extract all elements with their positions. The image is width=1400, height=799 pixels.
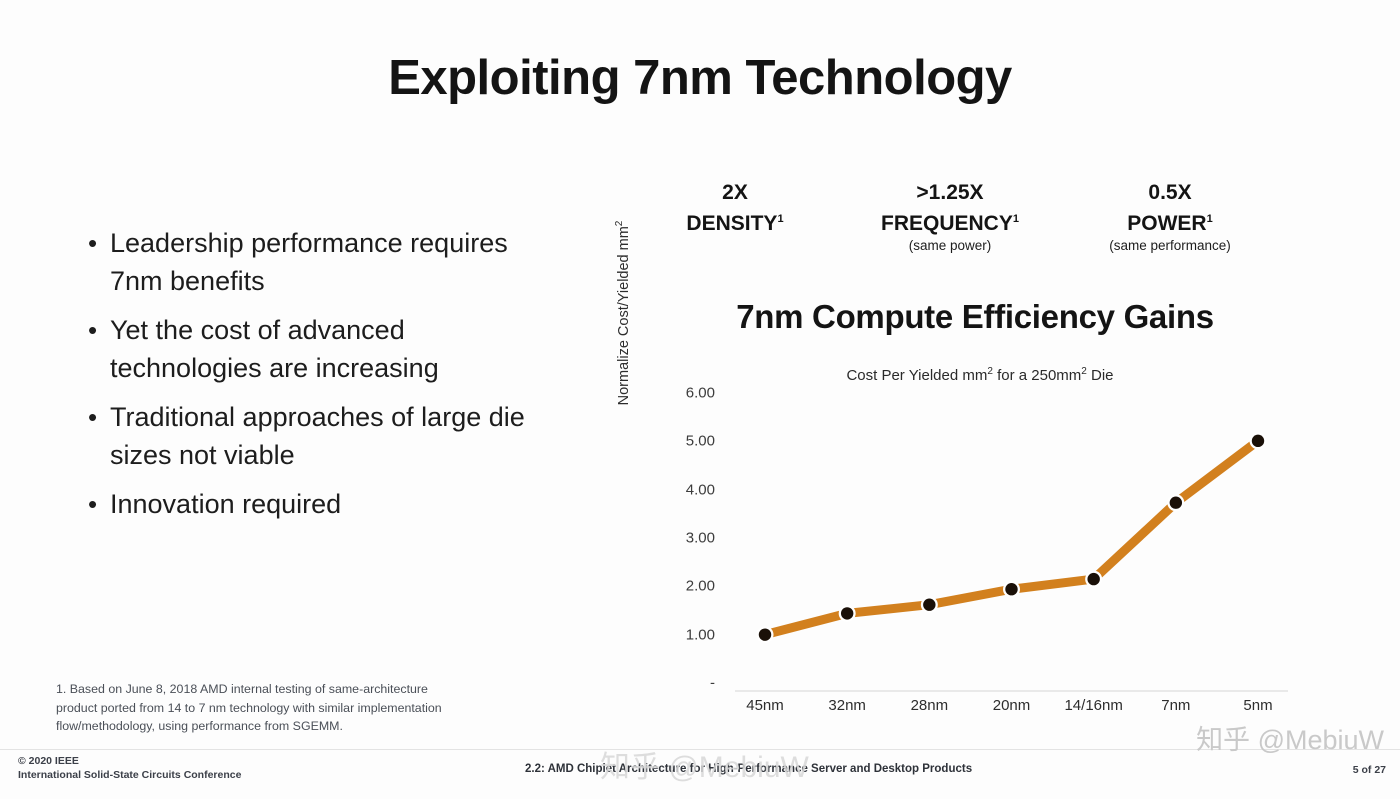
slide-canvas: Exploiting 7nm Technology • Leadership p… [0, 0, 1400, 799]
bullet-marker-icon: • [88, 311, 110, 349]
chart-container: 7nm Compute Efficiency Gains Cost Per Yi… [620, 298, 1280, 718]
data-point-28nm [923, 599, 935, 611]
list-item: • Traditional approaches of large die si… [88, 398, 528, 474]
stat-power-label-text: POWER [1127, 212, 1206, 235]
bullet-marker-icon: • [88, 485, 110, 523]
y-axis-tick-label: 3.00 [661, 530, 715, 547]
bullet-text: Innovation required [110, 485, 528, 523]
stat-frequency-label: FREQUENCY1 [830, 206, 1070, 237]
x-axis-tick-label: 45nm [746, 697, 784, 714]
x-axis-tick-label: 5nm [1243, 697, 1272, 714]
x-axis-tick-label: 14/16nm [1064, 697, 1122, 714]
footer-session-title: 2.2: AMD Chiplet Architecture for High-P… [525, 763, 972, 775]
stat-frequency-note: (same power) [830, 237, 1070, 255]
x-axis-tick-label: 28nm [911, 697, 949, 714]
bullet-marker-icon: • [88, 224, 110, 262]
stat-power-label: POWER1 [1070, 206, 1270, 237]
list-item: • Yet the cost of advanced technologies … [88, 311, 528, 387]
y-axis-tick-label: 2.00 [661, 578, 715, 595]
y-axis-title-text: Normalize Cost/Yielded mm [616, 226, 632, 405]
y-axis-title-sup: 2 [614, 221, 625, 227]
stat-density-label: DENSITY1 [655, 206, 815, 237]
page-title: Exploiting 7nm Technology [0, 50, 1400, 106]
data-point-45nm [759, 628, 771, 640]
stat-density: 2X DENSITY1 [655, 180, 815, 237]
y-axis-tick-label: 4.00 [661, 481, 715, 498]
chart-subtitle: Cost Per Yielded mm2 for a 250mm2 Die [680, 366, 1280, 384]
x-axis-baseline [735, 690, 1288, 692]
stat-density-value: 2X [655, 180, 815, 206]
bullet-text: Traditional approaches of large die size… [110, 398, 528, 474]
stat-density-label-text: DENSITY [686, 212, 777, 235]
list-item: • Innovation required [88, 485, 528, 523]
chart-title: 7nm Compute Efficiency Gains [665, 298, 1285, 336]
stat-power: 0.5X POWER1 (same performance) [1070, 180, 1270, 255]
stat-frequency: >1.25X FREQUENCY1 (same power) [830, 180, 1070, 255]
bullet-list: • Leadership performance requires 7nm be… [88, 224, 528, 534]
watermark-corner: 知乎 @MebiuW [1196, 718, 1384, 757]
stat-frequency-value: >1.25X [830, 180, 1070, 206]
stat-frequency-label-text: FREQUENCY [881, 212, 1013, 235]
data-point-5nm [1252, 435, 1264, 447]
y-axis-title: Normalize Cost/Yielded mm2 [614, 198, 632, 428]
y-axis-tick-label: 5.00 [661, 433, 715, 450]
copyright-line-1: © 2020 IEEE [18, 754, 241, 768]
footnote-text: 1. Based on June 8, 2018 AMD internal te… [56, 680, 456, 736]
copyright-text: © 2020 IEEE International Solid-State Ci… [18, 754, 241, 782]
y-axis-tick-label: 6.00 [661, 385, 715, 402]
y-axis-tick-label: - [661, 675, 715, 692]
chart-subtitle-prefix: Cost Per Yielded mm [846, 367, 987, 384]
line-series [725, 393, 1280, 683]
data-point-20nm [1005, 583, 1017, 595]
stat-frequency-footnote-marker: 1 [1013, 213, 1019, 225]
stat-power-footnote-marker: 1 [1207, 213, 1213, 225]
series-line [765, 441, 1258, 635]
x-axis-tick-label: 32nm [828, 697, 866, 714]
bullet-marker-icon: • [88, 398, 110, 436]
copyright-line-2: International Solid-State Circuits Confe… [18, 768, 241, 782]
data-point-7nm [1170, 497, 1182, 509]
y-axis-tick-label: 1.00 [661, 626, 715, 643]
data-point-14/16nm [1087, 573, 1099, 585]
x-axis-ticks: 45nm32nm28nm20nm14/16nm7nm5nm [725, 697, 1280, 721]
footer-divider [0, 749, 1400, 750]
stat-density-footnote-marker: 1 [777, 213, 783, 225]
chart-subtitle-suffix: Die [1087, 367, 1114, 384]
x-axis-tick-label: 7nm [1161, 697, 1190, 714]
bullet-text: Yet the cost of advanced technologies ar… [110, 311, 528, 387]
stat-power-value: 0.5X [1070, 180, 1270, 206]
list-item: • Leadership performance requires 7nm be… [88, 224, 528, 300]
stat-power-note: (same performance) [1070, 237, 1270, 255]
bullet-text: Leadership performance requires 7nm bene… [110, 224, 528, 300]
chart-subtitle-mid: for a 250mm [993, 367, 1081, 384]
data-point-32nm [841, 607, 853, 619]
stats-row: 2X DENSITY1 >1.25X FREQUENCY1 (same powe… [645, 178, 1270, 256]
page-number: 5 of 27 [1353, 764, 1386, 776]
x-axis-tick-label: 20nm [993, 697, 1031, 714]
plot-area: 6.005.004.003.002.001.00- 45nm32nm28nm20… [725, 393, 1280, 683]
